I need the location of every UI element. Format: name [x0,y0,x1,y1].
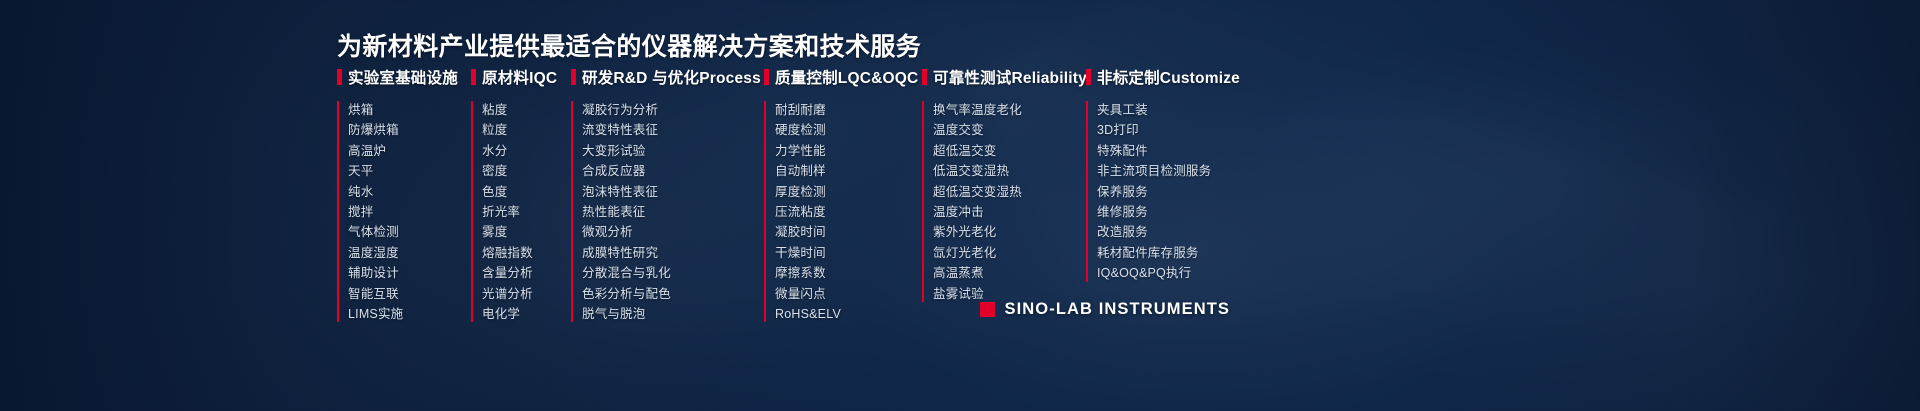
category-column: 非标定制Customize夹具工装3D打印特殊配件非主流项目检测服务保养服务维修… [1086,66,1246,324]
list-item[interactable]: 热性能表征 [582,202,764,222]
category-item-list: 凝胶行为分析流变特性表征大变形试验合成反应器泡沫特性表征热性能表征微观分析成膜特… [571,98,764,324]
list-item[interactable]: 熔融指数 [482,243,571,263]
list-item[interactable]: 凝胶行为分析 [582,100,764,120]
slide-content: 为新材料产业提供最适合的仪器解决方案和技术服务 实验室基础设施烘箱防爆烘箱高温炉… [0,0,1920,411]
brand-logo: SINO-LAB INSTRUMENTS [980,300,1231,319]
category-header-label: 原材料IQC [482,66,557,88]
list-item[interactable]: 压流粘度 [775,202,922,222]
category-item-list: 夹具工装3D打印特殊配件非主流项目检测服务保养服务维修服务改造服务耗材配件库存服… [1086,98,1246,284]
list-item[interactable]: 保养服务 [1097,182,1246,202]
slide-banner: 为新材料产业提供最适合的仪器解决方案和技术服务 实验室基础设施烘箱防爆烘箱高温炉… [0,0,1920,411]
category-header-label: 研发R&D 与优化Process [582,66,761,88]
category-columns: 实验室基础设施烘箱防爆烘箱高温炉天平纯水搅拌气体检测温度湿度辅助设计智能互联LI… [337,66,1246,324]
list-item[interactable]: 合成反应器 [582,161,764,181]
list-item[interactable]: 成膜特性研究 [582,243,764,263]
list-item[interactable]: 微量闪点 [775,284,922,304]
list-item[interactable]: 光谱分析 [482,284,571,304]
red-bar-icon [571,69,576,85]
red-bar-icon [337,69,342,85]
category-header-label: 可靠性测试Reliability [933,66,1087,88]
category-column: 研发R&D 与优化Process凝胶行为分析流变特性表征大变形试验合成反应器泡沫… [571,66,764,324]
list-item[interactable]: 脱气与脱泡 [582,304,764,324]
list-item[interactable]: 凝胶时间 [775,222,922,242]
list-item[interactable]: 含量分析 [482,263,571,283]
list-item[interactable]: 色彩分析与配色 [582,284,764,304]
category-column: 原材料IQC粘度粒度水分密度色度折光率雾度熔融指数含量分析光谱分析电化学 [471,66,571,324]
list-item[interactable]: 温度交变 [933,120,1086,140]
list-item[interactable]: 温度冲击 [933,202,1086,222]
red-square-icon [980,302,995,317]
category-header[interactable]: 可靠性测试Reliability [922,66,1086,88]
list-item[interactable]: 高温蒸煮 [933,263,1086,283]
list-item[interactable]: 低温交变湿热 [933,161,1086,181]
red-vertical-rule-icon [922,101,924,302]
list-item[interactable]: 自动制样 [775,161,922,181]
list-item[interactable]: 纯水 [348,182,471,202]
category-header-label: 非标定制Customize [1097,66,1240,88]
list-item[interactable]: 耐刮耐磨 [775,100,922,120]
red-vertical-rule-icon [1086,101,1088,282]
list-item[interactable]: 防爆烘箱 [348,120,471,140]
red-vertical-rule-icon [337,101,339,322]
category-column: 质量控制LQC&OQC耐刮耐磨硬度检测力学性能自动制样厚度检测压流粘度凝胶时间干… [764,66,922,324]
list-item[interactable]: 水分 [482,141,571,161]
list-item[interactable]: 天平 [348,161,471,181]
list-item[interactable]: 厚度检测 [775,182,922,202]
list-item[interactable]: 折光率 [482,202,571,222]
list-item[interactable]: 维修服务 [1097,202,1246,222]
list-item[interactable]: 耗材配件库存服务 [1097,243,1246,263]
category-item-list: 耐刮耐磨硬度检测力学性能自动制样厚度检测压流粘度凝胶时间干燥时间摩擦系数微量闪点… [764,98,922,324]
red-bar-icon [471,69,476,85]
category-header[interactable]: 质量控制LQC&OQC [764,66,922,88]
red-vertical-rule-icon [764,101,766,322]
red-vertical-rule-icon [471,101,473,322]
list-item[interactable]: 智能互联 [348,284,471,304]
category-item-list: 烘箱防爆烘箱高温炉天平纯水搅拌气体检测温度湿度辅助设计智能互联LIMS实施 [337,98,471,324]
category-column: 实验室基础设施烘箱防爆烘箱高温炉天平纯水搅拌气体检测温度湿度辅助设计智能互联LI… [337,66,471,324]
red-vertical-rule-icon [571,101,573,322]
category-header-label: 实验室基础设施 [348,66,458,88]
list-item[interactable]: 电化学 [482,304,571,324]
list-item[interactable]: 大变形试验 [582,141,764,161]
list-item[interactable]: LIMS实施 [348,304,471,324]
list-item[interactable]: 辅助设计 [348,263,471,283]
red-bar-icon [764,69,769,85]
list-item[interactable]: 非主流项目检测服务 [1097,161,1246,181]
list-item[interactable]: 雾度 [482,222,571,242]
category-header[interactable]: 实验室基础设施 [337,66,471,88]
list-item[interactable]: 泡沫特性表征 [582,182,764,202]
red-bar-icon [1086,69,1091,85]
list-item[interactable]: 夹具工装 [1097,100,1246,120]
list-item[interactable]: 气体检测 [348,222,471,242]
list-item[interactable]: 紫外光老化 [933,222,1086,242]
category-header[interactable]: 非标定制Customize [1086,66,1246,88]
list-item[interactable]: 硬度检测 [775,120,922,140]
list-item[interactable]: 烘箱 [348,100,471,120]
red-bar-icon [922,69,927,85]
list-item[interactable]: 粒度 [482,120,571,140]
list-item[interactable]: RoHS&ELV [775,304,922,324]
list-item[interactable]: 超低温交变 [933,141,1086,161]
list-item[interactable]: 流变特性表征 [582,120,764,140]
category-item-list: 粘度粒度水分密度色度折光率雾度熔融指数含量分析光谱分析电化学 [471,98,571,324]
category-header-label: 质量控制LQC&OQC [775,66,918,88]
list-item[interactable]: 粘度 [482,100,571,120]
list-item[interactable]: 特殊配件 [1097,141,1246,161]
list-item[interactable]: 分散混合与乳化 [582,263,764,283]
category-item-list: 换气率温度老化温度交变超低温交变低温交变湿热超低温交变湿热温度冲击紫外光老化氙灯… [922,98,1086,304]
list-item[interactable]: 密度 [482,161,571,181]
list-item[interactable]: 换气率温度老化 [933,100,1086,120]
list-item[interactable]: 微观分析 [582,222,764,242]
category-header[interactable]: 原材料IQC [471,66,571,88]
list-item[interactable]: 干燥时间 [775,243,922,263]
page-title: 为新材料产业提供最适合的仪器解决方案和技术服务 [337,27,921,63]
list-item[interactable]: 力学性能 [775,141,922,161]
category-column: 可靠性测试Reliability换气率温度老化温度交变超低温交变低温交变湿热超低… [922,66,1086,324]
list-item[interactable]: 改造服务 [1097,222,1246,242]
list-item[interactable]: IQ&OQ&PQ执行 [1097,263,1246,283]
list-item[interactable]: 色度 [482,182,571,202]
list-item[interactable]: 氙灯光老化 [933,243,1086,263]
list-item[interactable]: 搅拌 [348,202,471,222]
list-item[interactable]: 超低温交变湿热 [933,182,1086,202]
list-item[interactable]: 3D打印 [1097,120,1246,140]
category-header[interactable]: 研发R&D 与优化Process [571,66,764,88]
list-item[interactable]: 摩擦系数 [775,263,922,283]
brand-name: SINO-LAB INSTRUMENTS [1005,300,1231,319]
list-item[interactable]: 温度湿度 [348,243,471,263]
list-item[interactable]: 高温炉 [348,141,471,161]
